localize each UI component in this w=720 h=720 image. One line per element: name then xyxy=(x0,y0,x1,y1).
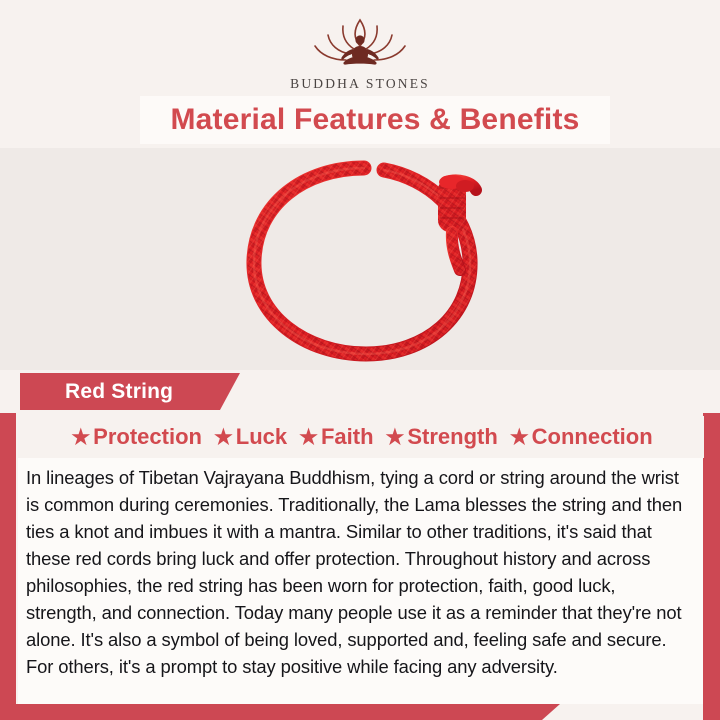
description-panel: In lineages of Tibetan Vajrayana Buddhis… xyxy=(18,458,703,704)
red-braided-cord-loop-with-sliding-knot-icon xyxy=(232,156,504,366)
benefit-connection: ★ Connection xyxy=(505,424,658,450)
lotus-meditation-figure-icon xyxy=(300,16,420,72)
star-icon: ★ xyxy=(299,427,318,448)
star-icon: ★ xyxy=(510,427,529,448)
page-title: Material Features & Benefits xyxy=(170,103,579,137)
product-photo-area xyxy=(0,148,720,370)
benefit-protection: ★ Protection xyxy=(66,424,207,450)
star-icon: ★ xyxy=(214,427,233,448)
brand-logo: BUDDHA STONES xyxy=(270,16,450,92)
star-icon: ★ xyxy=(71,427,90,448)
infographic-page: BUDDHA STONES Material Features & Benefi… xyxy=(0,0,720,720)
material-ribbon: Red String xyxy=(20,373,240,410)
frame-bottom-bar xyxy=(0,704,560,720)
brand-name: BUDDHA STONES xyxy=(270,76,450,92)
benefit-label: Faith xyxy=(321,424,374,450)
benefit-luck: ★ Luck xyxy=(209,424,292,450)
benefits-row: ★ Protection ★ Luck ★ Faith ★ Strength ★… xyxy=(20,416,704,458)
title-banner: Material Features & Benefits xyxy=(140,96,610,144)
benefit-label: Protection xyxy=(93,424,202,450)
description-text: In lineages of Tibetan Vajrayana Buddhis… xyxy=(26,464,689,680)
benefit-label: Connection xyxy=(532,424,653,450)
benefit-label: Luck xyxy=(236,424,287,450)
benefit-faith: ★ Faith xyxy=(294,424,378,450)
star-icon: ★ xyxy=(386,427,405,448)
material-name: Red String xyxy=(65,380,173,404)
benefit-label: Strength xyxy=(407,424,497,450)
benefit-strength: ★ Strength xyxy=(381,424,503,450)
header: BUDDHA STONES Material Features & Benefi… xyxy=(0,0,720,148)
